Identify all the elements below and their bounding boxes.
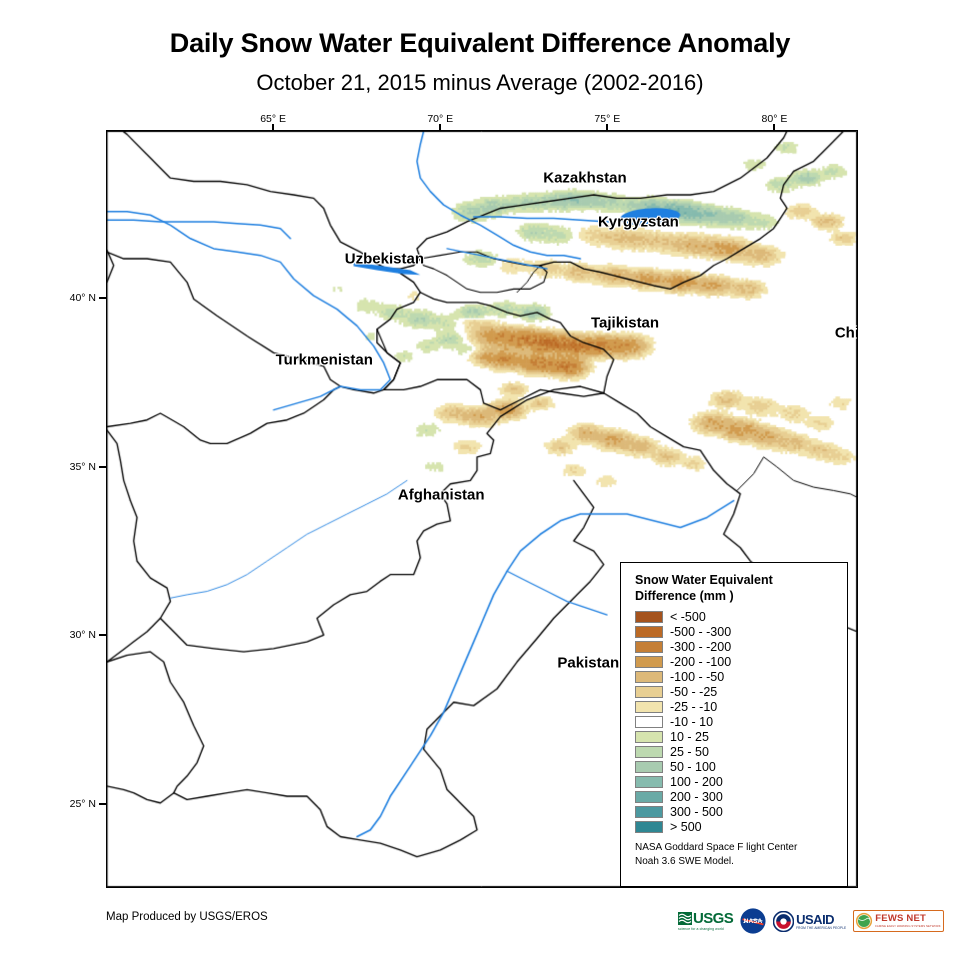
nasa-logo[interactable]: NASA	[740, 908, 766, 934]
legend-class-label: -200 - -100	[670, 655, 731, 669]
usgs-wave-icon	[678, 912, 692, 925]
legend-source-line1: NASA Goddard Space F light Center	[635, 841, 837, 855]
legend-class-label: 200 - 300	[670, 790, 723, 804]
legend-color-swatch	[635, 761, 663, 774]
legend-class-label: -300 - -200	[670, 640, 731, 654]
legend-class-label: 10 - 25	[670, 730, 709, 744]
legend-source-line2: Noah 3.6 SWE Model.	[635, 855, 837, 869]
legend-class-label: 100 - 200	[670, 775, 723, 789]
usaid-seal-icon	[773, 911, 794, 932]
legend-row: 50 - 100	[635, 759, 837, 774]
legend-row: 200 - 300	[635, 789, 837, 804]
fews-wordmark: FEWS NET	[875, 914, 940, 924]
page-title: Daily Snow Water Equivalent Difference A…	[0, 28, 960, 59]
legend-color-swatch	[635, 821, 663, 834]
legend-row: 25 - 50	[635, 744, 837, 759]
legend-class-label: -25 - -10	[670, 700, 717, 714]
legend-color-swatch	[635, 611, 663, 624]
lat-tick-label: 40° N	[70, 292, 96, 304]
legend-title-line1: Snow Water Equivalent	[635, 573, 837, 589]
legend-color-swatch	[635, 656, 663, 669]
legend-row: 100 - 200	[635, 774, 837, 789]
legend-color-swatch	[635, 746, 663, 759]
svg-text:NASA: NASA	[744, 918, 763, 925]
legend-row: -300 - -200	[635, 639, 837, 654]
legend-class-label: -10 - 10	[670, 715, 713, 729]
legend-panel: Snow Water Equivalent Difference (mm ) <…	[620, 562, 848, 887]
map-page: Daily Snow Water Equivalent Difference A…	[0, 0, 960, 960]
legend-color-swatch	[635, 731, 663, 744]
usaid-logo[interactable]: USAID FROM THE AMERICAN PEOPLE	[773, 908, 846, 934]
legend-color-swatch	[635, 791, 663, 804]
legend-row: 10 - 25	[635, 729, 837, 744]
legend-class-label: -100 - -50	[670, 670, 724, 684]
legend-class-label: < -500	[670, 610, 706, 624]
usaid-tagline: FROM THE AMERICAN PEOPLE	[796, 926, 846, 930]
map-credit: Map Produced by USGS/EROS	[106, 911, 268, 923]
lat-tick-label: 35° N	[70, 461, 96, 473]
legend-class-label: 50 - 100	[670, 760, 716, 774]
legend-row: > 500	[635, 819, 837, 834]
usgs-logo[interactable]: USGS science for a changing world	[678, 908, 733, 934]
lat-tick-label: 25° N	[70, 798, 96, 810]
fews-globe-icon	[855, 912, 873, 930]
legend-row: < -500	[635, 609, 837, 624]
usaid-wordmark: USAID	[796, 913, 846, 926]
legend-class-label: > 500	[670, 820, 702, 834]
nasa-meatball-icon: NASA	[740, 908, 766, 934]
lat-tick-label: 30° N	[70, 629, 96, 641]
legend-color-swatch	[635, 686, 663, 699]
legend-row: -50 - -25	[635, 684, 837, 699]
legend-row: -500 - -300	[635, 624, 837, 639]
legend-source-note: NASA Goddard Space F light Center Noah 3…	[635, 841, 837, 868]
legend-color-swatch	[635, 671, 663, 684]
legend-row: 300 - 500	[635, 804, 837, 819]
legend-row: -10 - 10	[635, 714, 837, 729]
legend-class-label: -50 - -25	[670, 685, 717, 699]
legend-color-swatch	[635, 641, 663, 654]
legend-class-label: -500 - -300	[670, 625, 731, 639]
legend-color-swatch	[635, 806, 663, 819]
legend-color-swatch	[635, 701, 663, 714]
legend-row: -100 - -50	[635, 669, 837, 684]
legend-color-swatch	[635, 716, 663, 729]
usgs-wordmark: USGS	[693, 911, 733, 926]
usgs-tagline: science for a changing world	[678, 927, 724, 931]
legend-title: Snow Water Equivalent Difference (mm )	[635, 573, 837, 604]
legend-class-label: 25 - 50	[670, 745, 709, 759]
fews-tagline: FAMINE EARLY WARNING SYSTEMS NETWORK	[875, 924, 940, 928]
legend-class-label: 300 - 500	[670, 805, 723, 819]
legend-class-list: < -500-500 - -300-300 - -200-200 - -100-…	[635, 609, 837, 834]
legend-color-swatch	[635, 776, 663, 789]
legend-color-swatch	[635, 626, 663, 639]
fews-net-logo[interactable]: FEWS NET FAMINE EARLY WARNING SYSTEMS NE…	[853, 908, 943, 934]
page-subtitle: October 21, 2015 minus Average (2002-201…	[0, 70, 960, 96]
legend-row: -200 - -100	[635, 654, 837, 669]
legend-title-line2: Difference (mm )	[635, 589, 837, 605]
partner-logos: USGS science for a changing world NASA	[678, 906, 944, 936]
legend-row: -25 - -10	[635, 699, 837, 714]
